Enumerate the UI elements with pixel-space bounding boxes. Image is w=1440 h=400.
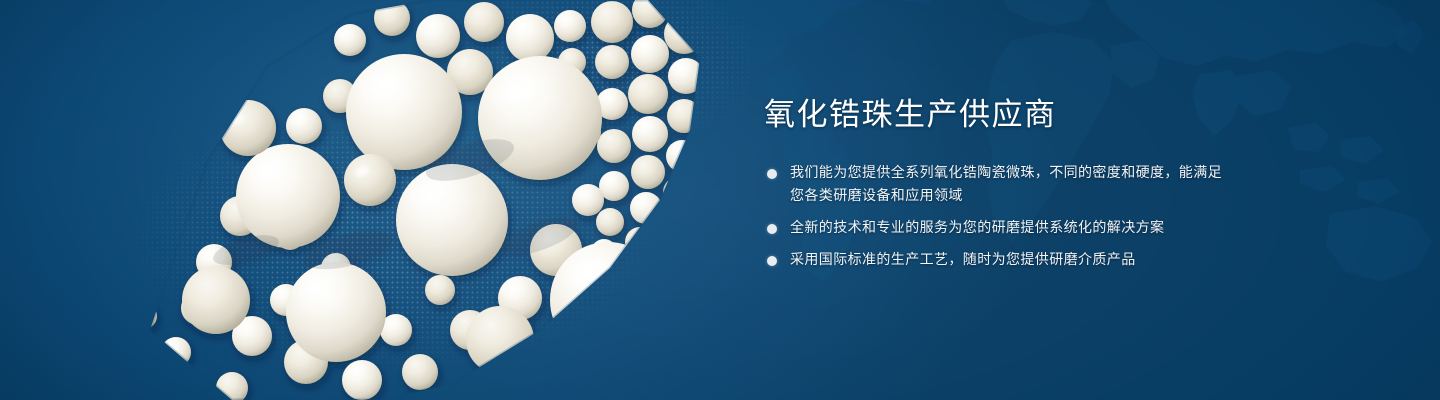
list-item: 全新的技术和专业的服务为您的研磨提供系统化的解决方案 bbox=[762, 217, 1232, 240]
list-item-text: 全新的技术和专业的服务为您的研磨提供系统化的解决方案 bbox=[790, 220, 1164, 236]
list-item-text: 采用国际标准的生产工艺，随时为您提供研磨介质产品 bbox=[790, 252, 1136, 268]
list-item: 我们能为您提供全系列氧化锆陶瓷微珠，不同的密度和硬度，能满足您各类研磨设备和应用… bbox=[762, 162, 1232, 208]
dot-bullet-icon bbox=[767, 256, 777, 266]
dot-bullet-icon bbox=[767, 224, 777, 234]
hero-banner: 氧化锆珠生产供应商 我们能为您提供全系列氧化锆陶瓷微珠，不同的密度和硬度，能满足… bbox=[0, 0, 1440, 400]
list-item: 采用国际标准的生产工艺，随时为您提供研磨介质产品 bbox=[762, 249, 1232, 272]
dot-bullet-icon bbox=[767, 169, 777, 179]
banner-title: 氧化锆珠生产供应商 bbox=[764, 96, 1232, 134]
banner-feature-list: 我们能为您提供全系列氧化锆陶瓷微珠，不同的密度和硬度，能满足您各类研磨设备和应用… bbox=[762, 162, 1232, 272]
banner-content: 氧化锆珠生产供应商 我们能为您提供全系列氧化锆陶瓷微珠，不同的密度和硬度，能满足… bbox=[762, 96, 1232, 272]
list-item-text: 我们能为您提供全系列氧化锆陶瓷微珠，不同的密度和硬度，能满足您各类研磨设备和应用… bbox=[790, 165, 1222, 204]
